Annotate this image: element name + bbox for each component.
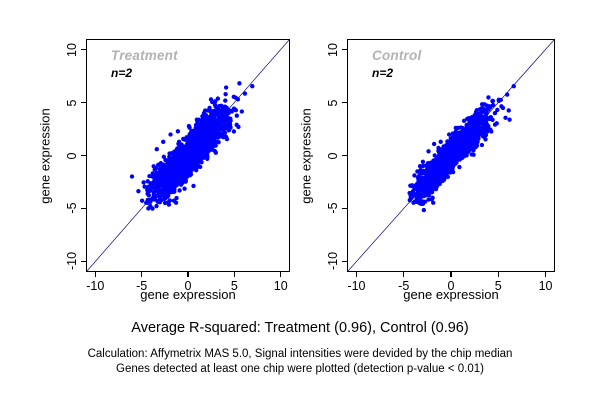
x-tick-mark <box>95 272 96 277</box>
y-tick-label: 0 <box>65 152 79 159</box>
y-tick-label: -5 <box>65 203 79 214</box>
y-tick-mark <box>342 155 347 156</box>
caption-line-1: Calculation: Affymetrix MAS 5.0, Signal … <box>0 347 600 362</box>
y-tick-mark <box>342 208 347 209</box>
x-tick-mark <box>545 272 546 277</box>
x-tick-label: 10 <box>539 279 553 293</box>
y-tick-mark <box>342 261 347 262</box>
x-tick-mark <box>450 272 451 277</box>
y-tick-label: 0 <box>326 152 340 159</box>
caption-spacer <box>0 338 600 347</box>
y-tick-label: 5 <box>65 99 79 106</box>
caption-line-2: Genes detected at least one chip were pl… <box>0 362 600 377</box>
y-axis-label-control: gene expression <box>299 108 314 203</box>
x-tick-label: -10 <box>347 279 365 293</box>
x-tick-mark <box>498 272 499 277</box>
x-tick-mark <box>403 272 404 277</box>
figure-canvas: Treatment n=2 -10-50510 -10-50510 gene e… <box>0 0 600 400</box>
y-tick-mark <box>81 49 86 50</box>
caption-main: Average R-squared: Treatment (0.96), Con… <box>0 318 600 338</box>
x-axis-label-treatment: gene expression <box>140 287 235 302</box>
y-tick-label: -5 <box>326 203 340 214</box>
y-tick-label: 10 <box>65 43 79 57</box>
caption-block: Average R-squared: Treatment (0.96), Con… <box>0 318 600 377</box>
y-tick-label: 5 <box>326 99 340 106</box>
panel-title-control: Control <box>372 48 421 63</box>
point-cloud <box>407 84 515 212</box>
y-tick-label: -10 <box>65 252 79 270</box>
x-tick-mark <box>187 272 188 277</box>
y-tick-label: 10 <box>326 43 340 57</box>
panel-n-control: n=2 <box>372 66 393 80</box>
y-tick-mark <box>342 49 347 50</box>
y-axis-label-treatment: gene expression <box>38 108 53 203</box>
y-tick-mark <box>81 102 86 103</box>
x-tick-mark <box>356 272 357 277</box>
panel-title-treatment: Treatment <box>111 48 178 63</box>
y-tick-mark <box>81 261 86 262</box>
y-tick-mark <box>342 102 347 103</box>
x-axis-label-control: gene expression <box>403 287 498 302</box>
y-tick-mark <box>81 208 86 209</box>
x-tick-label: -10 <box>86 279 104 293</box>
y-tick-label: -10 <box>326 252 340 270</box>
panel-control: Control n=2 -10-50510 -10-50510 gene exp… <box>261 0 561 320</box>
x-tick-mark <box>234 272 235 277</box>
panel-n-treatment: n=2 <box>111 66 132 80</box>
y-tick-mark <box>81 155 86 156</box>
panel-treatment: Treatment n=2 -10-50510 -10-50510 gene e… <box>0 0 300 320</box>
x-tick-mark <box>141 272 142 277</box>
